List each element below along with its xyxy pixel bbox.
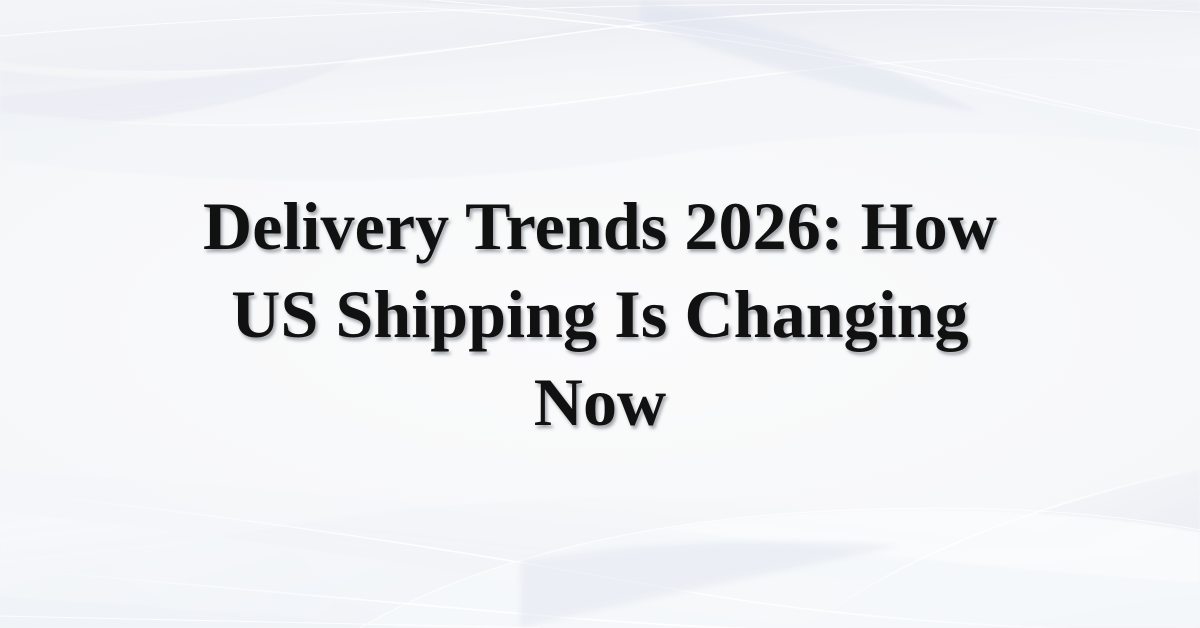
og-banner: Delivery Trends 2026: How US Shipping Is… (0, 0, 1200, 628)
title-container: Delivery Trends 2026: How US Shipping Is… (0, 0, 1200, 628)
banner-title: Delivery Trends 2026: How US Shipping Is… (160, 182, 1040, 446)
